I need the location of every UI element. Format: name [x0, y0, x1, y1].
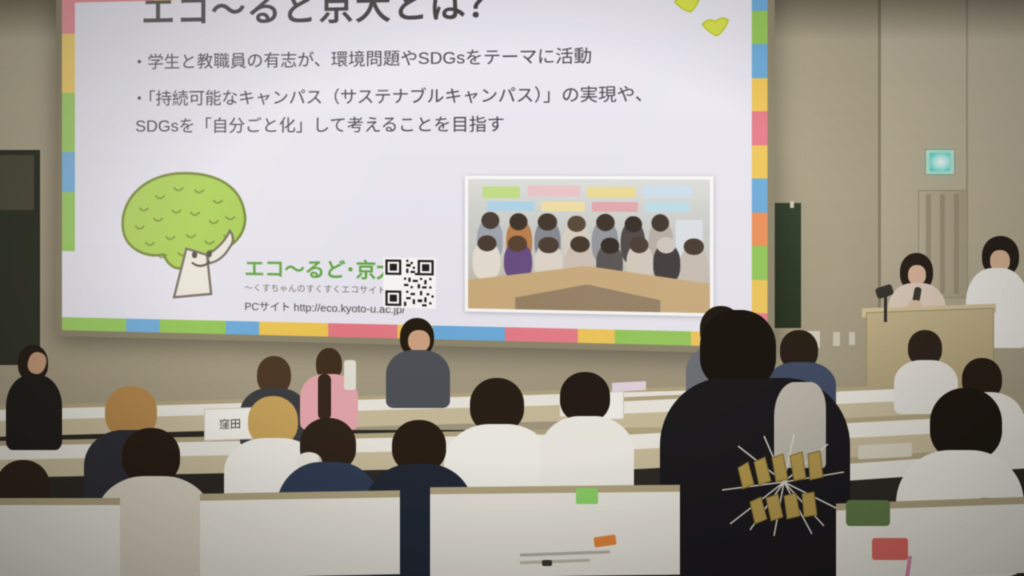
board-clip — [790, 201, 794, 208]
lecture-hall-photo: エコ～るど京大とは？ ・学生と教職員の有志が、環境問題やSDGsをテーマに活動 … — [0, 0, 1024, 576]
slide-canvas: エコ～るど京大とは？ ・学生と教職員の有志が、環境問題やSDGsをテーマに活動 … — [75, 0, 752, 333]
paper-sheet — [612, 381, 646, 392]
projection-screen: エコ～るど京大とは？ ・学生と教職員の有志が、環境問題やSDGsをテーマに活動 … — [56, 0, 775, 354]
slide-border-left — [62, 0, 75, 330]
group-photo — [465, 176, 714, 317]
slide-bullet-3: SDGsを「自分ごと化」して考えることを目指す — [135, 110, 504, 137]
slide-border-right — [752, 0, 768, 347]
tree-mascot-character — [113, 161, 257, 305]
desk-row — [0, 505, 120, 576]
audience-head — [700, 310, 776, 388]
slide-bullet-1: ・学生と教職員の有志が、環境問題やSDGsをテーマに活動 — [131, 41, 592, 73]
presenter-face — [908, 265, 926, 285]
audience-face — [408, 330, 430, 352]
wall-plate — [848, 331, 856, 346]
desk-item-red — [872, 538, 908, 560]
water-bottle — [344, 360, 356, 390]
desk-row — [200, 497, 400, 576]
ponytail — [318, 374, 331, 420]
tee-shirt-graphic — [716, 430, 852, 540]
audience-person — [386, 350, 450, 408]
audience-head — [560, 372, 610, 422]
desk-item-green — [576, 488, 598, 504]
projected-slide: エコ～るど京大とは？ ・学生と教職員の有志が、環境問題やSDGsをテーマに活動 … — [62, 0, 768, 347]
pen — [542, 560, 552, 566]
left-recess-panel — [0, 155, 34, 210]
exit-sign — [925, 149, 955, 175]
qr-code — [383, 257, 436, 308]
slide-bullet-2: ・「持続可能なキャンパス（サステナブルキャンパス）」の実現や、 — [131, 79, 653, 109]
logo-name: エコ～るど･京大 — [244, 259, 396, 283]
slide-title: エコ～るど京大とは？ — [141, 0, 505, 33]
leaf-bird-doodle — [671, 0, 706, 17]
leaf-bird-doodle — [699, 14, 732, 39]
wall-plate — [832, 331, 841, 347]
desk-row — [430, 492, 680, 576]
desk-item-pouch — [846, 500, 890, 526]
rolled-paper — [858, 443, 912, 460]
audience-person — [6, 375, 62, 450]
